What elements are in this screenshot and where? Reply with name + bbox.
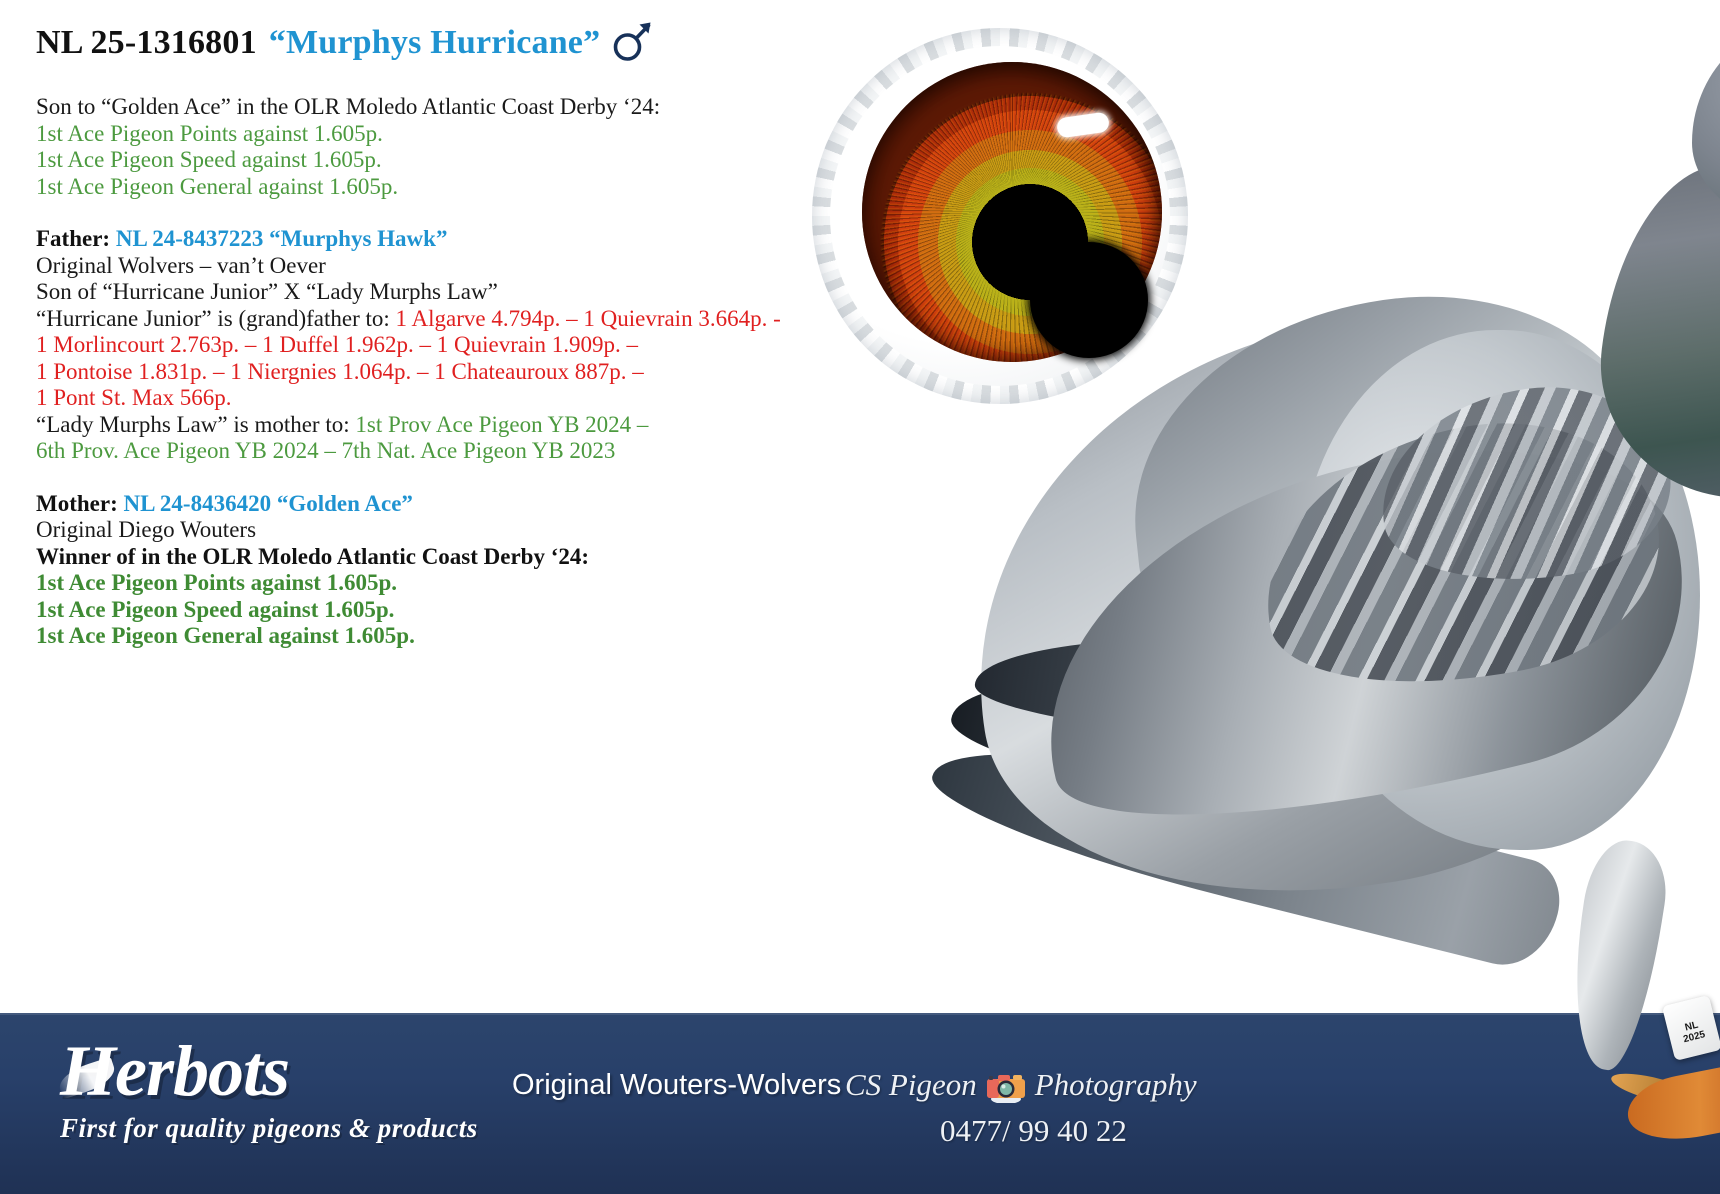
father-section: Father: NL 24-8437223 “Murphys Hawk” Ori… — [36, 226, 866, 465]
pigeon-name: “Murphys Hurricane” — [269, 25, 601, 61]
father-ring-name: NL 24-8437223 “Murphys Hawk” — [116, 226, 448, 251]
ring-number: NL 25-1316801 — [36, 25, 257, 61]
mother-ring-name: NL 24-8436420 “Golden Ace” — [124, 491, 413, 516]
grandfather-results-inline: 1 Algarve 4.794p. – 1 Quievrain 3.664p. … — [396, 306, 781, 331]
mother-result-2: 1st Ace Pigeon Speed against 1.605p. — [36, 597, 866, 624]
pedigree-card: NL 2025 NL 25-1316801 “Murphys Hurricane… — [0, 0, 1720, 1194]
grandfather-results-line-4: 1 Pont St. Max 566p. — [36, 385, 866, 412]
father-heading: Father: NL 24-8437223 “Murphys Hawk” — [36, 226, 866, 253]
grandfather-results-line-2: 1 Morlincourt 2.763p. – 1 Duffel 1.962p.… — [36, 332, 866, 359]
intro-result-2: 1st Ace Pigeon Speed against 1.605p. — [36, 147, 866, 174]
intro-section: Son to “Golden Ace” in the OLR Moledo At… — [36, 94, 866, 200]
father-parents: Son of “Hurricane Junior” X “Lady Murphs… — [36, 279, 866, 306]
mother-label: Mother: — [36, 491, 118, 516]
page-title: NL 25-1316801 “Murphys Hurricane” — [36, 22, 866, 64]
herbots-tagline: First for quality pigeons & products — [60, 1113, 480, 1144]
grandfather-results-line-3: 1 Pontoise 1.831p. – 1 Niergnies 1.064p.… — [36, 359, 866, 386]
pedigree-text-block: NL 25-1316801 “Murphys Hurricane” Son to… — [36, 22, 866, 650]
grandfather-results-line-1: “Hurricane Junior” is (grand)father to: … — [36, 306, 866, 333]
male-symbol-icon — [612, 19, 652, 61]
mother-result-3: 1st Ace Pigeon General against 1.605p. — [36, 623, 866, 650]
father-label: Father: — [36, 226, 110, 251]
grandmother-results-inline: 1st Prov Ace Pigeon YB 2024 – — [355, 412, 648, 437]
father-origin: Original Wolvers – van’t Oever — [36, 253, 866, 280]
pigeon-leg-ring: NL 2025 — [1662, 995, 1720, 1061]
pigeon-leg — [1559, 835, 1674, 1075]
mother-heading: Mother: NL 24-8436420 “Golden Ace” — [36, 491, 866, 518]
intro-line: Son to “Golden Ace” in the OLR Moledo At… — [36, 94, 866, 121]
grandmother-results-line-1: “Lady Murphs Law” is mother to: 1st Prov… — [36, 412, 866, 439]
grandfather-prefix: “Hurricane Junior” is (grand)father to: — [36, 306, 390, 331]
herbots-brand-text: Herbots — [60, 1035, 480, 1107]
mother-section: Mother: NL 24-8436420 “Golden Ace” Origi… — [36, 491, 866, 650]
grandmother-results-line-2: 6th Prov. Ace Pigeon YB 2024 – 7th Nat. … — [36, 438, 866, 465]
herbots-logo: Herbots First for quality pigeons & prod… — [60, 1035, 480, 1144]
intro-result-1: 1st Ace Pigeon Points against 1.605p. — [36, 121, 866, 148]
spacer-2 — [36, 465, 866, 491]
spacer-1 — [36, 200, 866, 226]
grandmother-prefix: “Lady Murphs Law” is mother to: — [36, 412, 350, 437]
pigeon-foot — [1622, 1039, 1720, 1150]
intro-result-3: 1st Ace Pigeon General against 1.605p. — [36, 174, 866, 201]
mother-origin: Original Diego Wouters — [36, 517, 866, 544]
mother-result-1: 1st Ace Pigeon Points against 1.605p. — [36, 570, 866, 597]
mother-winner-line: Winner of in the OLR Moledo Atlantic Coa… — [36, 544, 866, 571]
